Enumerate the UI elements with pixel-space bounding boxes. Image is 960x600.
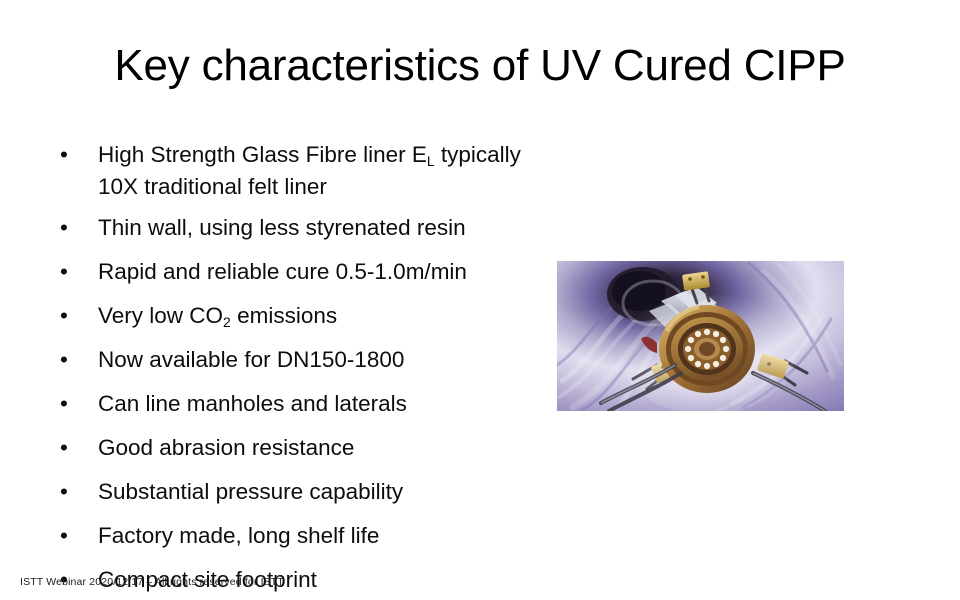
list-item: • Factory made, long shelf life: [48, 521, 528, 553]
list-item: • Rapid and reliable cure 0.5-1.0m/min: [48, 257, 528, 289]
page-title: Key characteristics of UV Cured CIPP: [0, 38, 960, 94]
list-item-label: Thin wall, using less styrenated resin: [98, 213, 528, 245]
bullet-marker-icon: •: [60, 301, 68, 330]
bullet-marker-icon: •: [60, 521, 68, 550]
list-item-label: High Strength Glass Fibre liner EL typic…: [98, 140, 528, 201]
list-item-label: Very low CO2 emissions: [98, 301, 528, 333]
list-item: • Good abrasion resistance: [48, 433, 528, 465]
list-item-subscript: 2: [223, 314, 231, 330]
list-item-text-post: emissions: [231, 303, 337, 328]
slide-canvas: Key characteristics of UV Cured CIPP • H…: [0, 0, 960, 600]
list-item: • Thin wall, using less styrenated resin: [48, 213, 528, 245]
list-item-text-pre: Now available for DN150-1800: [98, 347, 404, 372]
uv-curing-light-train-in-liner-photo: [557, 261, 844, 411]
list-item-text-pre: Factory made, long shelf life: [98, 523, 379, 548]
list-item: • Substantial pressure capability: [48, 477, 528, 509]
list-item-text-pre: Thin wall, using less styrenated resin: [98, 215, 466, 240]
list-item-text-pre: Can line manholes and laterals: [98, 391, 407, 416]
bullet-marker-icon: •: [60, 140, 68, 169]
uv-photo-illustration: [557, 261, 844, 411]
list-item-subscript: L: [427, 153, 435, 169]
bullet-marker-icon: •: [60, 345, 68, 374]
list-item: • High Strength Glass Fibre liner EL typ…: [48, 140, 528, 201]
list-item-label: Now available for DN150-1800: [98, 345, 528, 377]
list-item-label: Substantial pressure capability: [98, 477, 528, 509]
list-item: • Can line manholes and laterals: [48, 389, 528, 421]
list-item-text-pre: Substantial pressure capability: [98, 479, 403, 504]
list-item: • Now available for DN150-1800: [48, 345, 528, 377]
list-item-text-pre: High Strength Glass Fibre liner E: [98, 142, 427, 167]
footer-copyright-note: ISTT Webinar 2020/12/17 – All rights res…: [20, 575, 284, 589]
list-item-label: Rapid and reliable cure 0.5-1.0m/min: [98, 257, 528, 289]
bullet-marker-icon: •: [60, 213, 68, 242]
bullet-marker-icon: •: [60, 433, 68, 462]
list-item-label: Good abrasion resistance: [98, 433, 528, 465]
bullet-marker-icon: •: [60, 477, 68, 506]
bullet-list: • High Strength Glass Fibre liner EL typ…: [48, 140, 528, 597]
list-item-text-pre: Very low CO: [98, 303, 223, 328]
bullet-marker-icon: •: [60, 389, 68, 418]
bullet-marker-icon: •: [60, 257, 68, 286]
list-item-label: Factory made, long shelf life: [98, 521, 528, 553]
list-item-text-pre: Rapid and reliable cure 0.5-1.0m/min: [98, 259, 467, 284]
list-item: • Very low CO2 emissions: [48, 301, 528, 333]
list-item-text-pre: Good abrasion resistance: [98, 435, 354, 460]
list-item-label: Can line manholes and laterals: [98, 389, 528, 421]
